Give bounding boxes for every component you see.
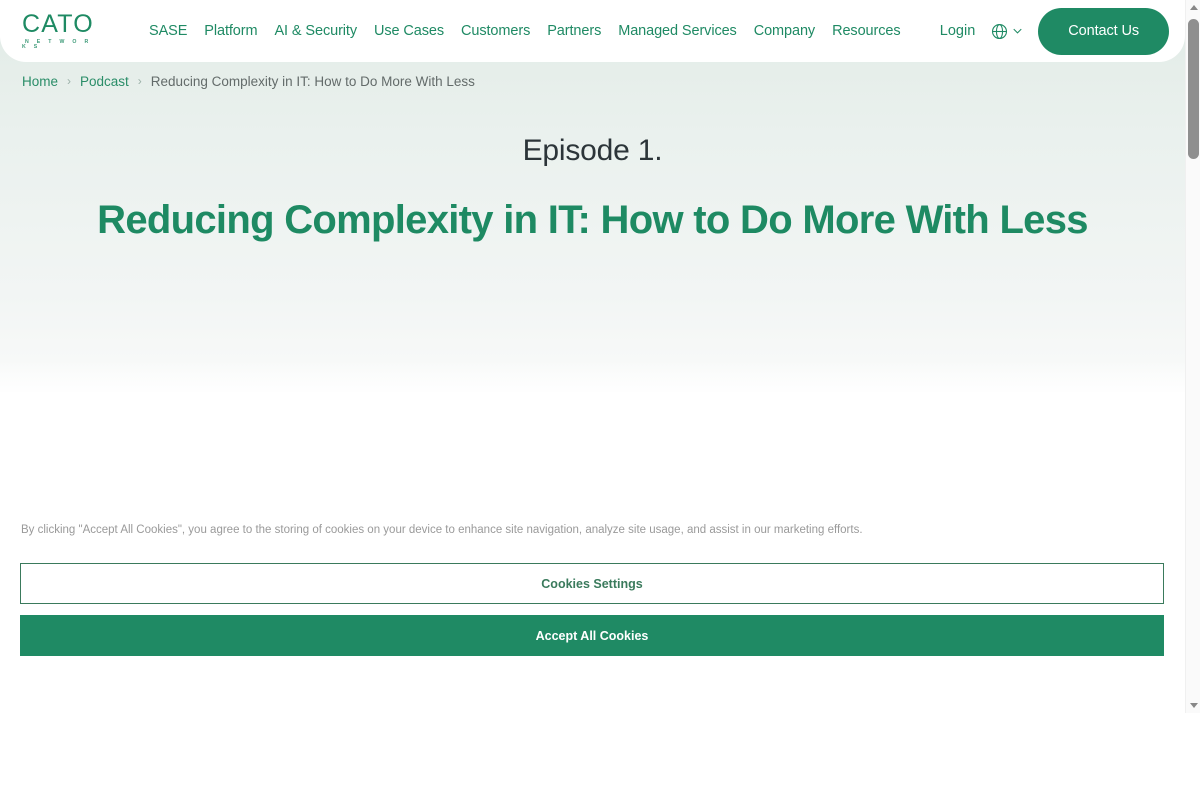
main-navigation: SASE Platform AI & Security Use Cases Cu…	[149, 23, 901, 39]
breadcrumb-separator: ›	[67, 75, 71, 87]
login-link[interactable]: Login	[940, 23, 975, 39]
logo-subtext: N E T W O R K S	[22, 40, 94, 50]
nav-item-sase[interactable]: SASE	[149, 23, 187, 39]
cookies-settings-button[interactable]: Cookies Settings	[20, 563, 1164, 604]
episode-eyebrow: Episode 1.	[0, 134, 1185, 168]
logo-wordmark: CATO	[22, 12, 94, 37]
scrollbar-up-button[interactable]	[1186, 0, 1200, 15]
contact-us-button[interactable]: Contact Us	[1038, 8, 1169, 55]
scrollbar-thumb[interactable]	[1188, 19, 1199, 159]
nav-item-managed-services[interactable]: Managed Services	[618, 23, 737, 39]
breadcrumb-item-home[interactable]: Home	[22, 74, 58, 89]
accept-all-cookies-button[interactable]: Accept All Cookies	[20, 615, 1164, 656]
page-content: CATO N E T W O R K S SASE Platform AI & …	[0, 0, 1185, 713]
nav-item-company[interactable]: Company	[754, 23, 815, 39]
cato-networks-logo[interactable]: CATO N E T W O R K S	[22, 12, 94, 50]
nav-item-use-cases[interactable]: Use Cases	[374, 23, 444, 39]
hero-bottom-fade	[0, 360, 1185, 420]
globe-icon	[991, 23, 1008, 40]
page-title: Reducing Complexity in IT: How to Do Mor…	[0, 198, 1185, 243]
scroll-up-arrow-icon	[1190, 5, 1198, 10]
vertical-scrollbar[interactable]	[1185, 0, 1200, 713]
breadcrumb-separator: ›	[138, 75, 142, 87]
nav-item-customers[interactable]: Customers	[461, 23, 530, 39]
language-selector[interactable]	[991, 23, 1022, 40]
header-actions: Login Contact Us	[940, 8, 1169, 55]
nav-item-platform[interactable]: Platform	[204, 23, 257, 39]
scrollbar-down-button[interactable]	[1186, 698, 1200, 713]
chevron-down-icon	[1013, 28, 1022, 34]
site-header: CATO N E T W O R K S SASE Platform AI & …	[0, 0, 1185, 62]
breadcrumb-item-current: Reducing Complexity in IT: How to Do Mor…	[151, 74, 475, 89]
nav-item-partners[interactable]: Partners	[547, 23, 601, 39]
cookie-consent-banner: By clicking "Accept All Cookies", you ag…	[0, 497, 1185, 674]
nav-item-ai-security[interactable]: AI & Security	[274, 23, 357, 39]
breadcrumb-item-podcast[interactable]: Podcast	[80, 74, 129, 89]
scroll-down-arrow-icon	[1190, 703, 1198, 708]
cookie-consent-text: By clicking "Accept All Cookies", you ag…	[21, 522, 1164, 539]
browser-viewport: CATO N E T W O R K S SASE Platform AI & …	[0, 0, 1200, 713]
nav-item-resources[interactable]: Resources	[832, 23, 900, 39]
breadcrumb: Home › Podcast › Reducing Complexity in …	[0, 62, 1185, 100]
